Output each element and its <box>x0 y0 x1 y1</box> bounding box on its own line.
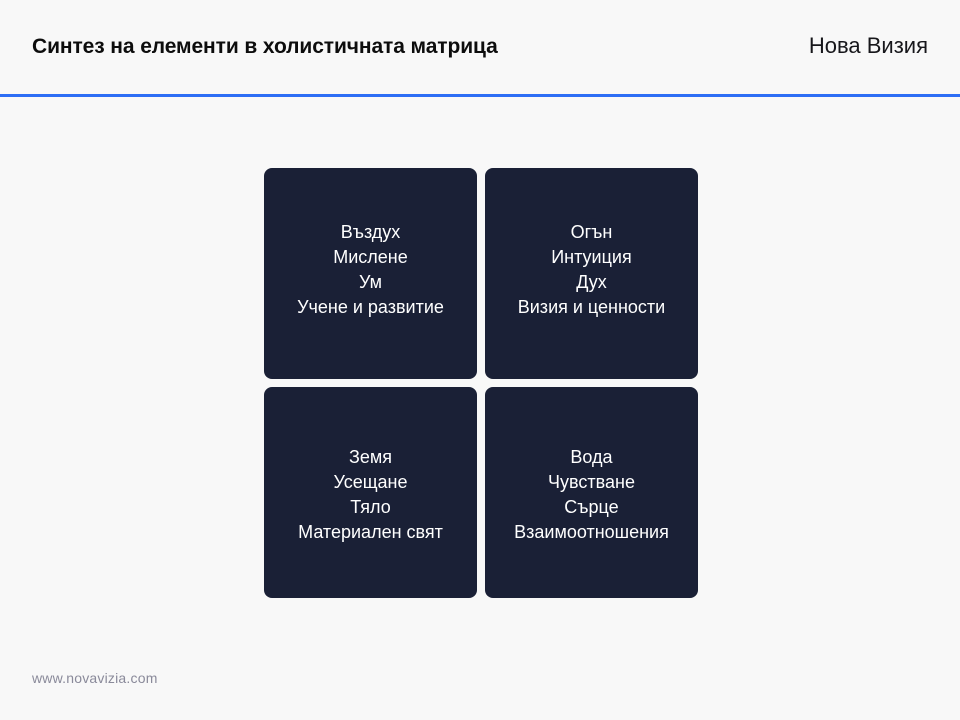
slide-header: Синтез на елементи в холистичната матриц… <box>0 0 960 96</box>
quadrant-air: Въздух Мислене Ум Учене и развитие <box>264 168 477 379</box>
quadrant-fire-lines: Огън Интуиция Дух Визия и ценности <box>518 220 665 320</box>
header-divider <box>0 94 960 97</box>
quadrant-line: Усещане <box>333 470 407 495</box>
quadrant-line: Земя <box>349 445 392 470</box>
quadrant-water-lines: Вода Чувстване Сърце Взаимоотношения <box>514 445 669 545</box>
quadrant-earth-lines: Земя Усещане Тяло Материален свят <box>298 445 443 545</box>
footer-website: www.novavizia.com <box>32 668 158 688</box>
quadrant-line: Вода <box>570 445 612 470</box>
quadrant-line: Чувстване <box>548 470 635 495</box>
quadrant-air-lines: Въздух Мислене Ум Учене и развитие <box>297 220 444 320</box>
quadrant-line: Ум <box>359 270 382 295</box>
quadrant-line: Мислене <box>333 245 408 270</box>
quadrant-earth: Земя Усещане Тяло Материален свят <box>264 387 477 598</box>
quadrant-water: Вода Чувстване Сърце Взаимоотношения <box>485 387 698 598</box>
brand-label: Нова Визия <box>809 32 928 60</box>
quadrant-line: Взаимоотношения <box>514 520 669 545</box>
quadrant-line: Огън <box>571 220 613 245</box>
slide-canvas: Синтез на елементи в холистичната матриц… <box>0 0 960 720</box>
quadrant-fire: Огън Интуиция Дух Визия и ценности <box>485 168 698 379</box>
page-title: Синтез на елементи в холистичната матриц… <box>32 34 498 60</box>
quadrant-line: Дух <box>576 270 607 295</box>
quadrant-line: Интуиция <box>551 245 632 270</box>
quadrant-line: Учене и развитие <box>297 295 444 320</box>
quadrant-line: Визия и ценности <box>518 295 665 320</box>
quadrant-line: Сърце <box>564 495 618 520</box>
quadrant-line: Тяло <box>350 495 390 520</box>
quadrant-line: Материален свят <box>298 520 443 545</box>
elements-matrix: Въздух Мислене Ум Учене и развитие Огън … <box>264 168 698 602</box>
quadrant-line: Въздух <box>341 220 401 245</box>
